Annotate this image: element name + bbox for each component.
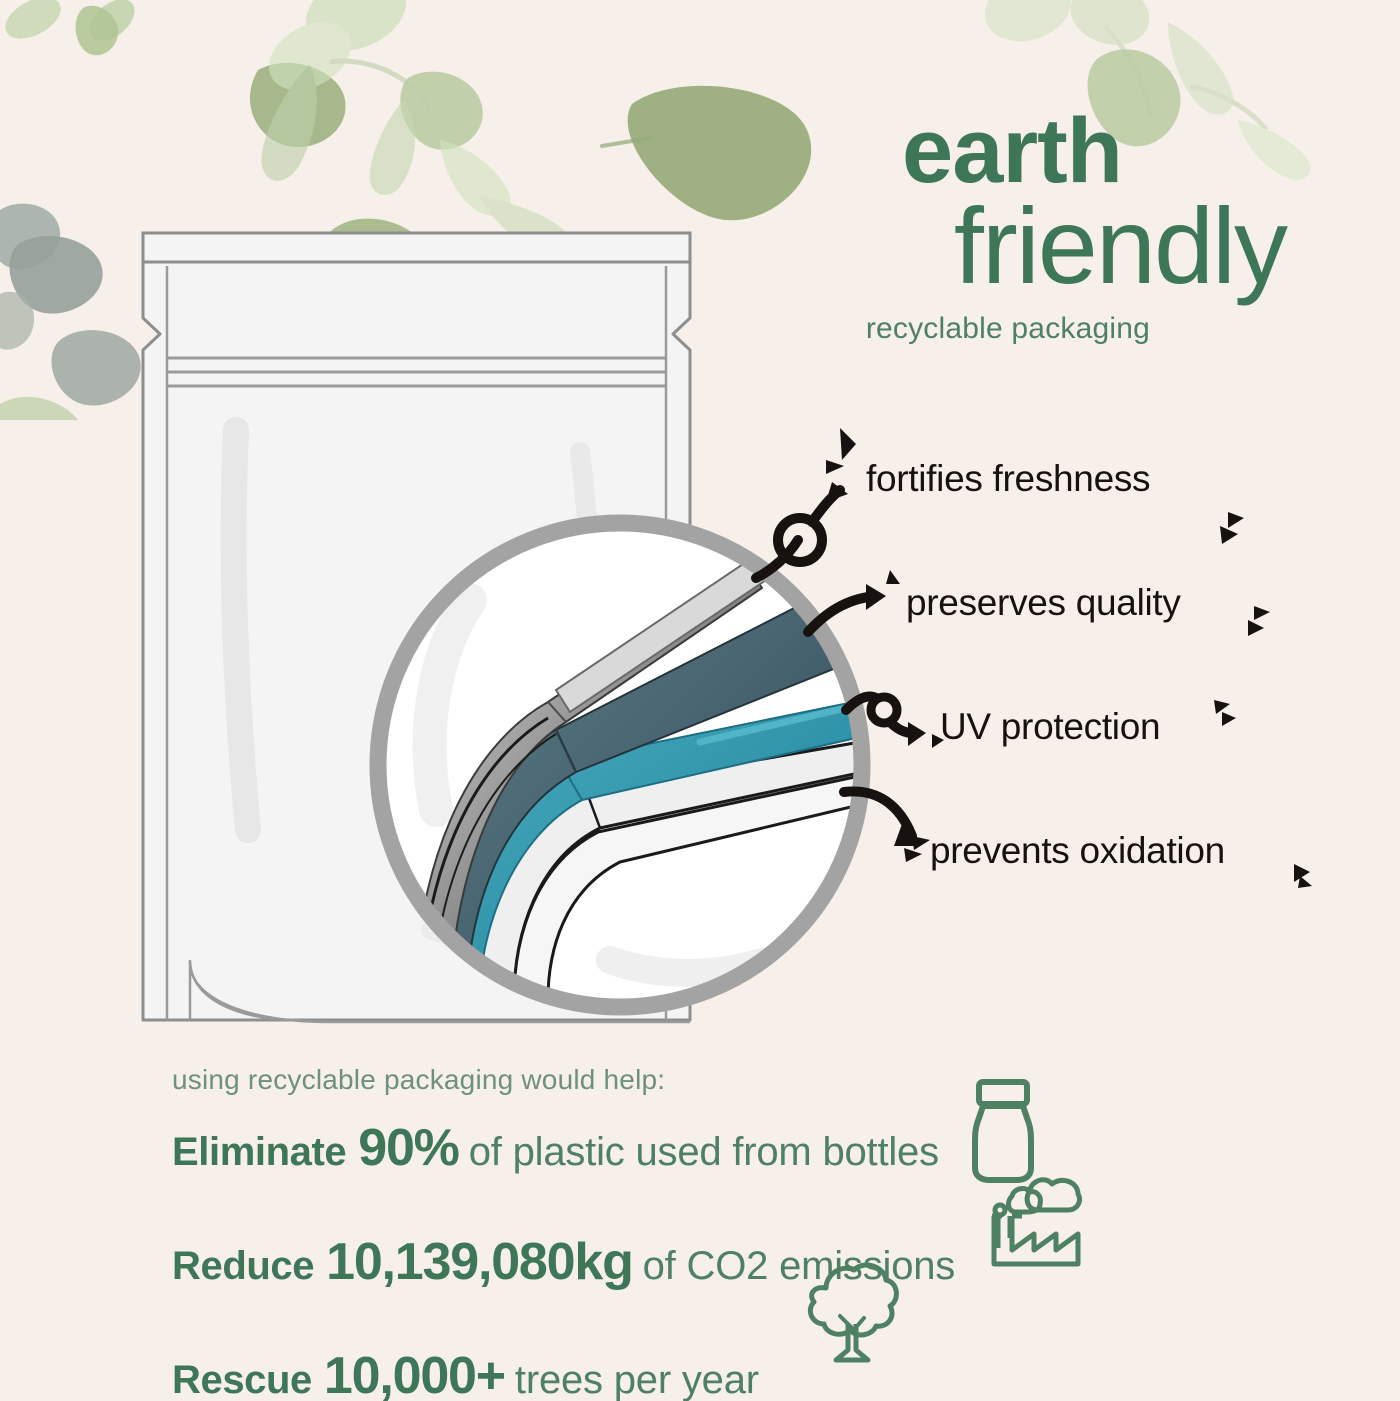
stat-value: 10,000+ <box>324 1346 505 1401</box>
headline-block: earth friendly recyclable packaging <box>700 108 1300 346</box>
stat-tail: of plastic used from bottles <box>469 1130 939 1175</box>
magnified-cross-section <box>378 523 918 1015</box>
page-subtitle: recyclable packaging <box>700 312 1300 346</box>
stats-intro-text: using recyclable packaging would help: <box>172 1064 1232 1096</box>
stat-tail: trees per year <box>515 1358 759 1401</box>
feature-label-prevents-oxidation: prevents oxidation <box>930 830 1225 872</box>
feature-label-preserves-quality: preserves quality <box>906 582 1181 624</box>
page-title-earth: earth <box>700 108 1300 194</box>
stat-tail: of CO2 emissions <box>643 1244 955 1289</box>
stats-block: using recyclable packaging would help: E… <box>172 1064 1232 1401</box>
stat-row-rescue: Rescue 10,000+ trees per year <box>172 1346 1232 1401</box>
feature-label-uv-protection: UV protection <box>940 706 1160 748</box>
page-title-friendly: friendly <box>700 194 1300 298</box>
stat-row-reduce: Reduce 10,139,080kg of CO2 emissions <box>172 1232 1232 1306</box>
feature-label-fortifies-freshness: fortifies freshness <box>866 458 1150 500</box>
stat-verb: Reduce <box>172 1244 314 1289</box>
stat-verb: Rescue <box>172 1358 312 1401</box>
stat-verb: Eliminate <box>172 1130 346 1175</box>
stat-value: 10,139,080kg <box>326 1232 633 1292</box>
stat-value: 90% <box>358 1118 458 1178</box>
stat-row-eliminate: Eliminate 90% of plastic used from bottl… <box>172 1118 1232 1192</box>
infographic-page: earth friendly recyclable packaging <box>0 0 1400 1401</box>
